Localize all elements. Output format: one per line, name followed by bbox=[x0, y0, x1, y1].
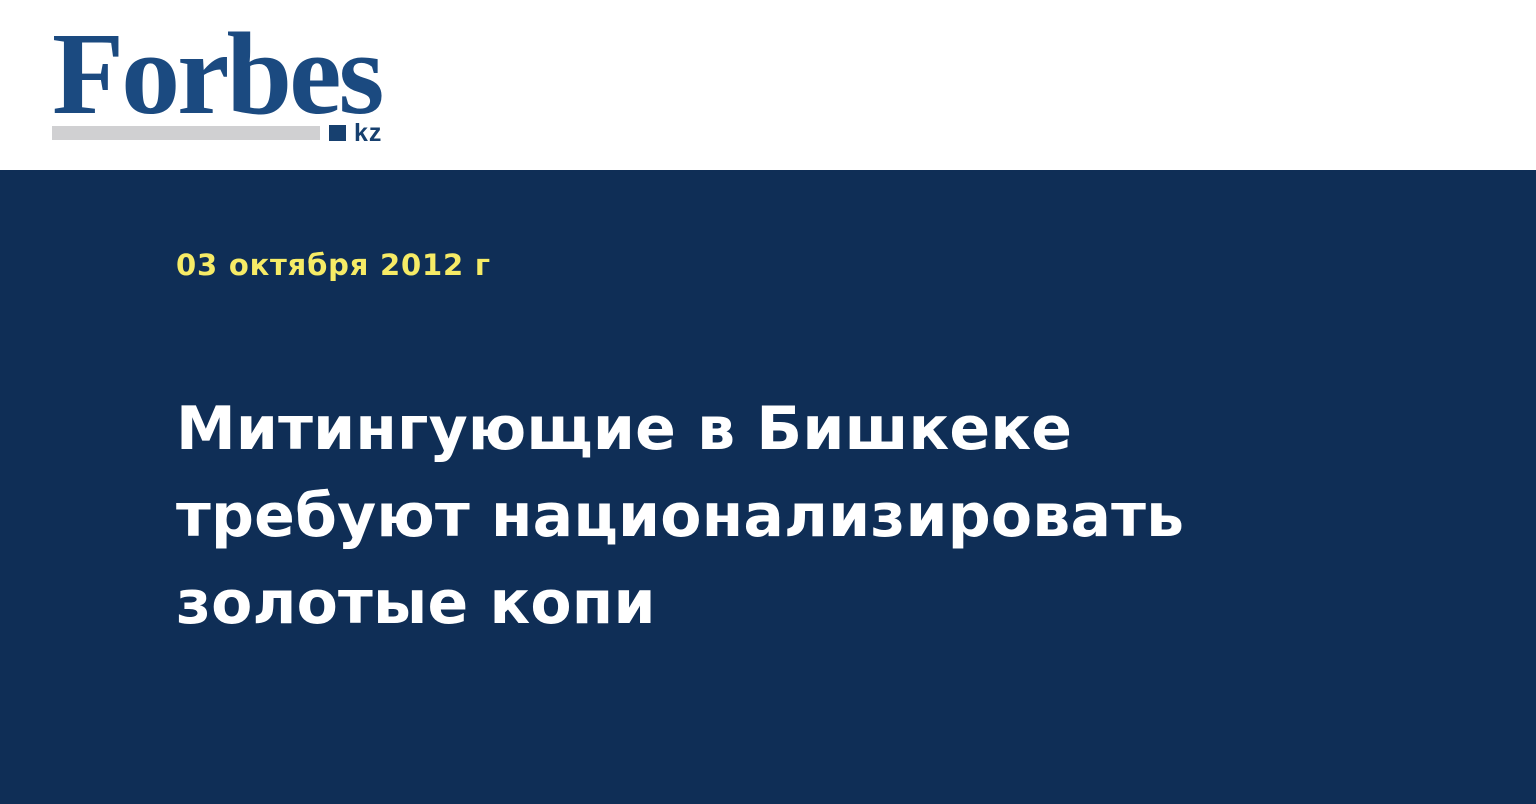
headline-line-2: требуют национализировать bbox=[176, 473, 1236, 560]
headline-line-1: Митингующие в Бишкеке bbox=[176, 386, 1236, 473]
headline-line-3: золотые копи bbox=[176, 560, 1236, 647]
article-hero-page: Forbes kz 03 октября 2012 г Митингующие … bbox=[0, 0, 1536, 804]
article-headline: Митингующие в Бишкеке требуют национализ… bbox=[176, 386, 1236, 647]
forbes-wordmark: Forbes bbox=[52, 18, 381, 130]
article-publish-date: 03 октября 2012 г bbox=[176, 248, 491, 282]
forbes-kz-logo[interactable]: Forbes kz bbox=[52, 18, 412, 144]
site-masthead: Forbes kz bbox=[0, 0, 1536, 170]
logo-square-icon bbox=[329, 125, 346, 141]
logo-kz-label: kz bbox=[354, 121, 382, 146]
logo-underline-rule bbox=[52, 126, 320, 140]
article-hero: 03 октября 2012 г Митингующие в Бишкеке … bbox=[0, 170, 1536, 804]
